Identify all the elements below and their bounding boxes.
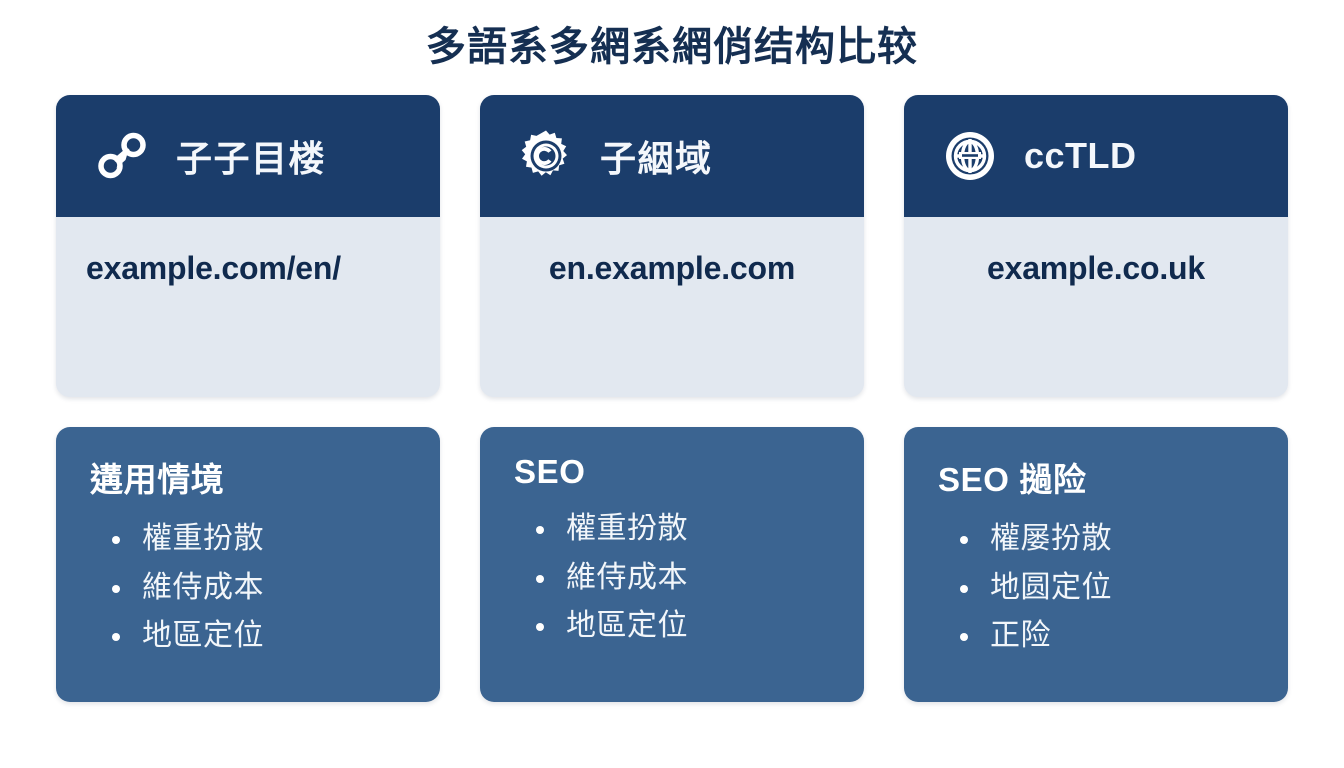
list-item: 權重扮散 [104, 515, 406, 564]
type-card-header: 子絪域 [480, 95, 864, 217]
globe-icon [942, 128, 998, 184]
type-card-subdomain[interactable]: 子絪域 en.example.com [480, 95, 864, 397]
type-card-cctld[interactable]: ccTLD example.co.uk [904, 95, 1288, 397]
detail-card-use-case[interactable]: 遘用情境 權重扮散 維侍成本 地區定位 [56, 427, 440, 702]
list-item: 正险 [952, 612, 1254, 661]
list-item: 地圆定位 [952, 564, 1254, 613]
type-card-subdirectory[interactable]: 子子目楼 example.com/en/ [56, 95, 440, 397]
type-card-body: example.co.uk [904, 217, 1288, 397]
type-card-title: 子子目楼 [176, 130, 326, 182]
gear-copyright-icon [518, 128, 574, 184]
list-item: 地區定位 [104, 612, 406, 661]
detail-card-title: 遘用情境 [90, 453, 406, 501]
type-card-header: 子子目楼 [56, 95, 440, 217]
list-item: 權重扮散 [528, 505, 830, 554]
page-title: 多語系多網系網俏结构比较 [0, 22, 1344, 72]
type-card-body: en.example.com [480, 217, 864, 397]
detail-list: 權重扮散 維侍成本 地區定位 [514, 505, 830, 651]
detail-list: 權屡扮散 地圆定位 正险 [938, 515, 1254, 661]
type-card-body: example.com/en/ [56, 217, 440, 397]
url-example: example.co.uk [934, 250, 1258, 287]
list-item: 地區定位 [528, 602, 830, 651]
link-chain-icon [94, 128, 150, 184]
detail-card-seo-risk[interactable]: SEO 撾险 權屡扮散 地圆定位 正险 [904, 427, 1288, 702]
list-item: 維侍成本 [528, 554, 830, 603]
cards-grid: 子子目楼 example.com/en/ [56, 95, 1288, 702]
detail-card-title: SEO 撾险 [938, 453, 1254, 501]
type-card-title: ccTLD [1024, 135, 1137, 177]
url-example: example.com/en/ [86, 250, 410, 287]
list-item: 權屡扮散 [952, 515, 1254, 564]
type-card-header: ccTLD [904, 95, 1288, 217]
detail-list: 權重扮散 維侍成本 地區定位 [90, 515, 406, 661]
url-example: en.example.com [510, 250, 834, 287]
infographic-slide: 多語系多網系網俏结构比较 子子目楼 exampl [0, 0, 1344, 768]
list-item: 維侍成本 [104, 564, 406, 613]
detail-card-seo[interactable]: SEO 權重扮散 維侍成本 地區定位 [480, 427, 864, 702]
detail-card-title: SEO [514, 453, 830, 491]
type-card-title: 子絪域 [600, 130, 713, 182]
